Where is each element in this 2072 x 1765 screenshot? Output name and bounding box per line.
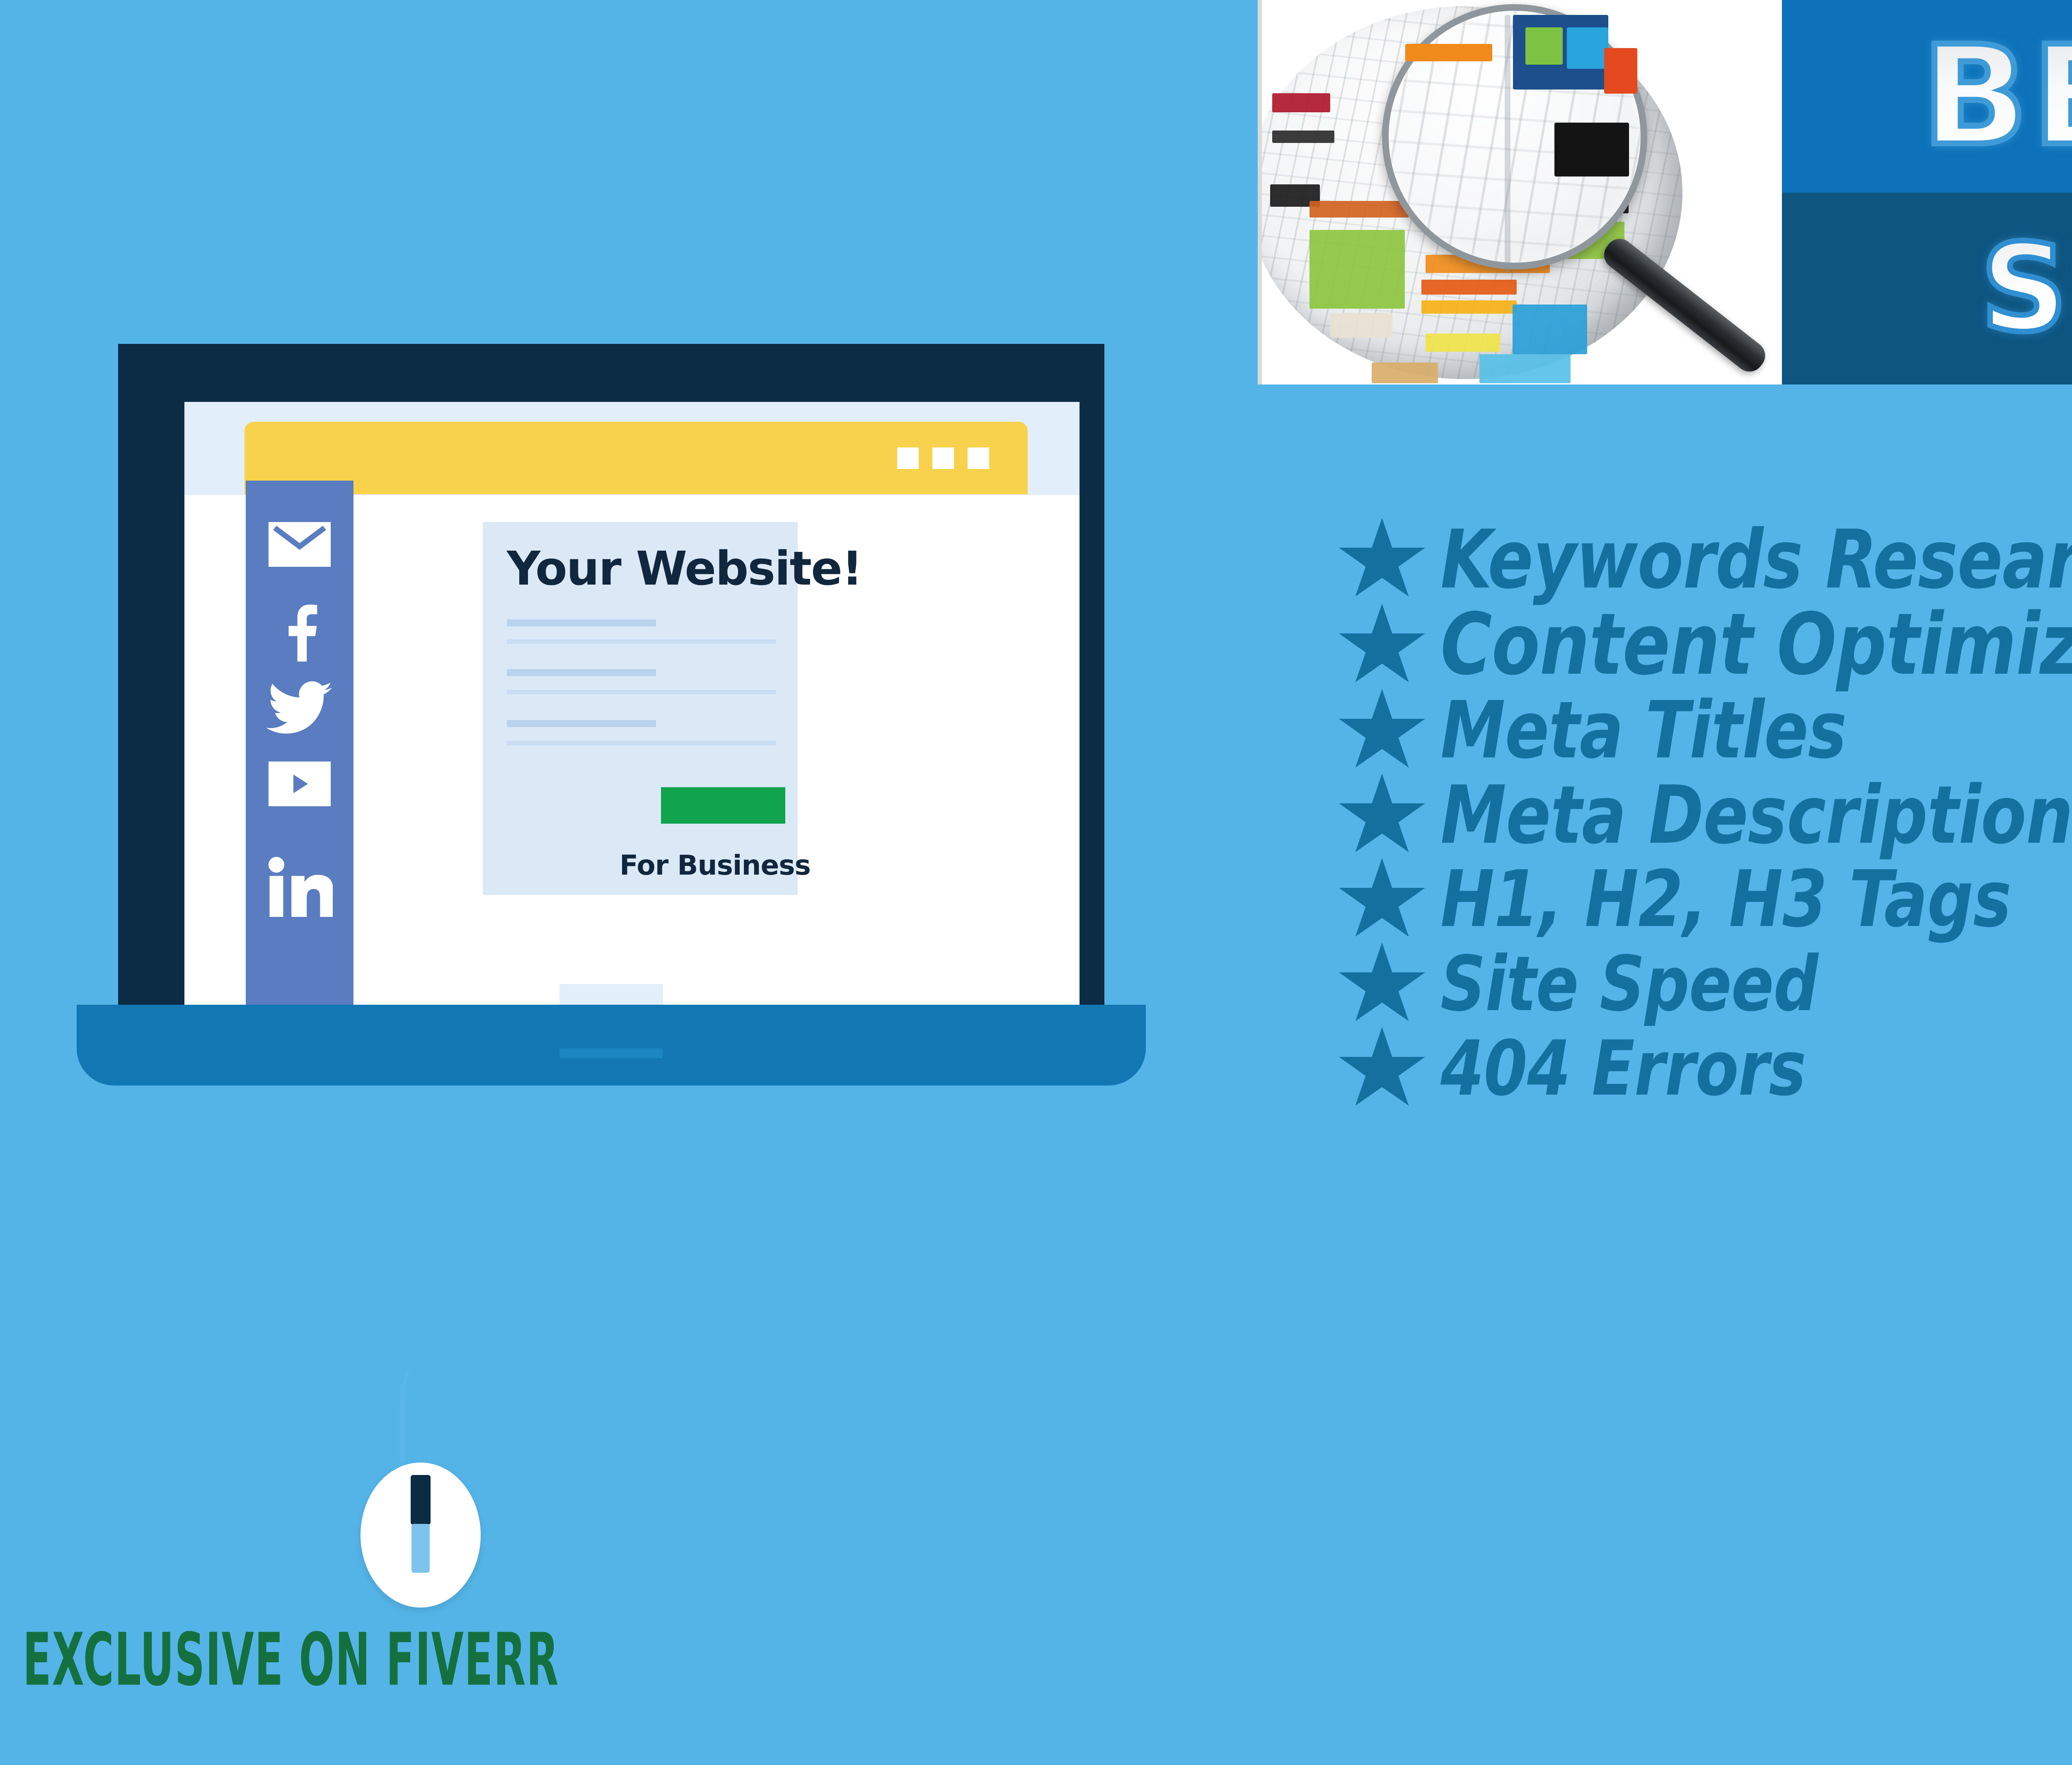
mouse-cable: [400, 1367, 430, 1467]
email-icon[interactable]: [269, 522, 331, 567]
service-item: Content Optimization: [1339, 602, 2072, 687]
service-label: H1, H2, H3 Tags: [1440, 861, 2011, 938]
placeholder-line: [507, 741, 776, 745]
star-icon: [1339, 1027, 1426, 1110]
service-item: H1, H2, H3 Tags: [1339, 858, 2072, 941]
service-label: Meta Description: [1440, 775, 2072, 855]
seo-service-list: Keywords Research Content Optimization M…: [1339, 518, 2072, 1112]
banner-title: BEST SEO: [1922, 35, 2072, 158]
service-label: Meta Titles: [1440, 691, 1847, 770]
service-label: Site Speed: [1440, 946, 1818, 1022]
placeholder-line: [507, 690, 776, 694]
service-item: Meta Description: [1339, 774, 2072, 856]
laptop-screen: Your Website! For Business: [184, 402, 1080, 1005]
service-item: Meta Titles: [1339, 689, 2072, 772]
browser-dot-1: [897, 447, 919, 469]
website-card-heading: Your Website!: [507, 542, 862, 596]
linkedin-icon[interactable]: [265, 856, 334, 918]
footer-tagline: EXCLUSIVE ON FIVERR: [23, 1618, 559, 1702]
service-item: Keywords Research: [1339, 518, 2072, 601]
mouse-button: [411, 1475, 431, 1525]
service-item: 404 Errors: [1339, 1027, 2072, 1110]
placeholder-line: [507, 669, 656, 676]
website-card-footer: For Business: [620, 849, 811, 881]
browser-dot-3: [968, 447, 989, 469]
placeholder-line: [507, 720, 656, 727]
star-icon: [1339, 858, 1426, 941]
star-icon: [1339, 518, 1426, 601]
star-icon: [1339, 604, 1426, 687]
service-item: Site Speed: [1339, 943, 2072, 1025]
star-icon: [1339, 943, 1426, 1025]
laptop-lid: Your Website! For Business: [118, 344, 1104, 1005]
facebook-icon[interactable]: [269, 600, 331, 662]
youtube-icon[interactable]: [269, 762, 331, 806]
star-icon: [1339, 774, 1426, 856]
browser-title-bar: [244, 422, 1028, 494]
computer-mouse: [350, 1429, 491, 1608]
laptop-base: [77, 1005, 1146, 1086]
magnifying-glass-lens: [1382, 4, 1647, 269]
banner-photo-plate: [1258, 0, 1782, 384]
browser-dot-2: [932, 447, 954, 469]
banner-subtitle: SERVICES: [1981, 235, 2072, 343]
social-sidebar: [246, 481, 353, 1005]
placeholder-line: [507, 619, 656, 626]
website-preview-card: Your Website! For Business: [483, 522, 798, 895]
laptop-hinge-shadow: [559, 1048, 663, 1058]
laptop-illustration: Your Website! For Business: [118, 344, 1208, 1077]
service-label: 404 Errors: [1440, 1031, 1806, 1107]
seo-banner: BEST SEO SERVICES: [1258, 0, 2072, 384]
twitter-icon[interactable]: [264, 679, 336, 739]
star-icon: [1339, 689, 1426, 772]
mouse-scroll-wheel: [411, 1524, 430, 1573]
service-label: Keywords Research: [1440, 519, 2072, 600]
website-cta-button[interactable]: [661, 787, 785, 824]
service-label: Content Optimization: [1440, 602, 2072, 687]
placeholder-line: [507, 639, 776, 644]
